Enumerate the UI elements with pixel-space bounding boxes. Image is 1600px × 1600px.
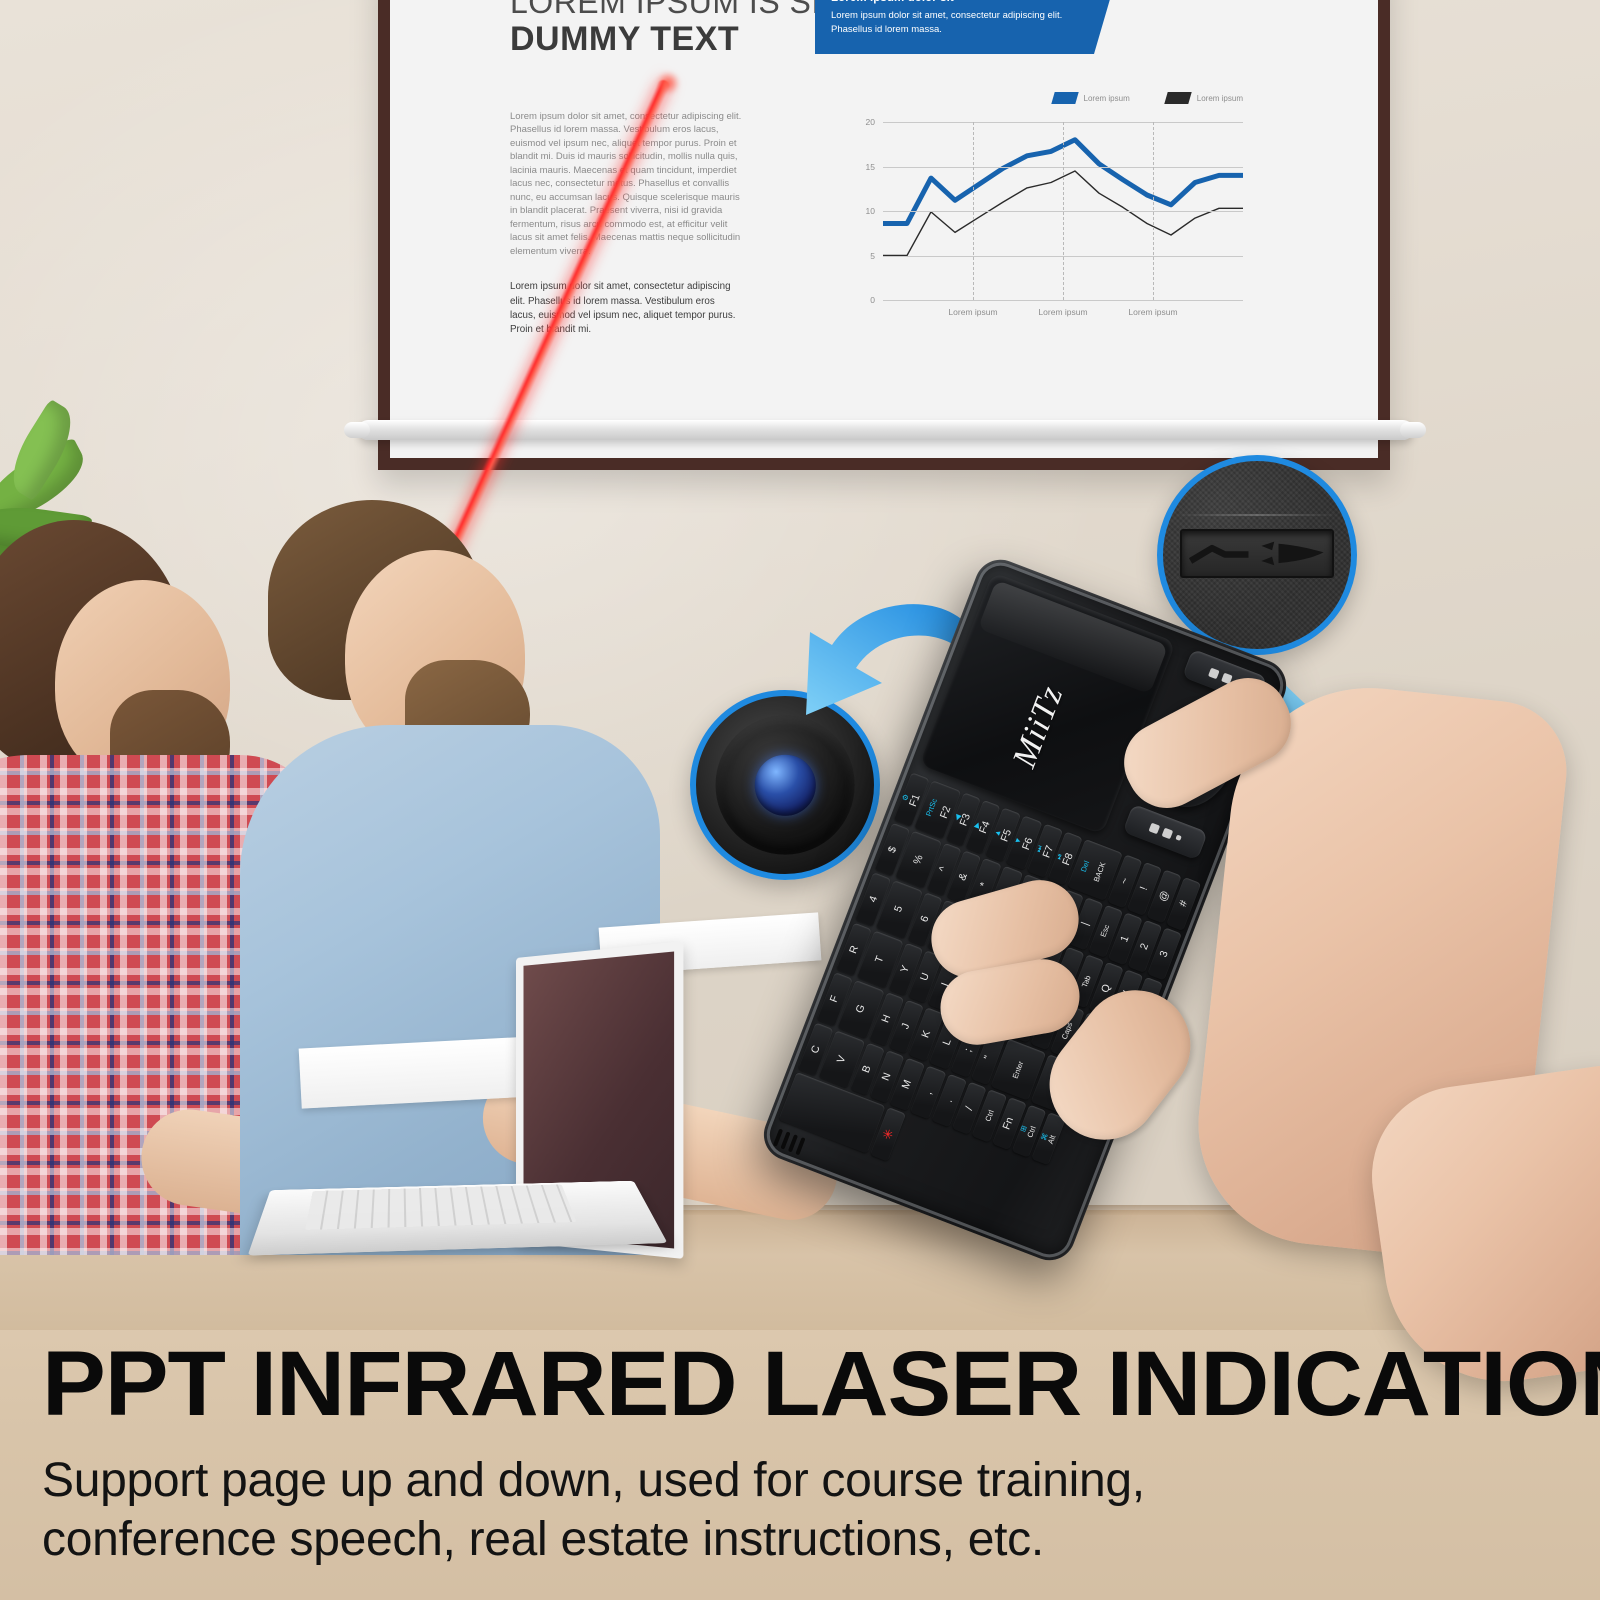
- button-dot: [1175, 834, 1181, 840]
- legend-label: Lorem ipsum: [1084, 94, 1130, 103]
- key-label: H: [880, 1014, 893, 1025]
- key-label: Y: [899, 964, 911, 974]
- key-label: 5: [893, 905, 905, 914]
- key-label: Enter: [1012, 1060, 1025, 1079]
- presentation-slide: LOREM IPSUM IS SIMPLY DUMMY TEXT Lorem i…: [390, 0, 1378, 458]
- key-label: R: [848, 944, 861, 955]
- battery-slot-opening: [1180, 529, 1334, 578]
- chart-gridline: [883, 300, 1243, 301]
- key-label: ;: [963, 1047, 974, 1053]
- subheading-line-2: conference speech, real estate instructi…: [42, 1511, 1342, 1570]
- key-label: #: [1178, 899, 1190, 908]
- key-label: N: [881, 1071, 894, 1082]
- slide-title-line2: DUMMY TEXT: [510, 20, 739, 59]
- legend-swatch: [1164, 92, 1191, 104]
- key-label: Fn: [1002, 1116, 1016, 1131]
- key-label: F1: [908, 793, 922, 808]
- key-label: Esc: [1100, 924, 1111, 938]
- key-label: J: [900, 1022, 912, 1031]
- key-label: |: [1080, 920, 1091, 926]
- roller-cap-right: [1400, 422, 1426, 438]
- key-secondary-label: PrtSc: [925, 797, 939, 817]
- legend-item: Lorem ipsum: [1166, 92, 1243, 104]
- key-label: ,: [923, 1089, 934, 1095]
- key-label: F4: [978, 820, 992, 835]
- screen-frame: LOREM IPSUM IS SIMPLY DUMMY TEXT Lorem i…: [378, 0, 1390, 470]
- chart-vertical-gridline: [973, 122, 974, 300]
- key-label: ~: [1119, 876, 1131, 885]
- slide-paragraph-1: Lorem ipsum dolor sit amet, consectetur …: [510, 110, 742, 258]
- key-label: &: [957, 871, 969, 881]
- key-label: 4: [867, 895, 879, 904]
- key-label: !: [1139, 885, 1150, 891]
- product-marketing-image: LOREM IPSUM IS SIMPLY DUMMY TEXT Lorem i…: [0, 0, 1600, 1600]
- battery-slot-callout: [1157, 455, 1357, 655]
- key-label: K: [920, 1029, 932, 1039]
- key-label: @: [1157, 889, 1171, 903]
- key-label: G: [854, 1004, 867, 1015]
- chart-y-tick: 5: [870, 251, 875, 261]
- key-label: Tab: [1081, 974, 1092, 988]
- button-dot: [1148, 822, 1160, 834]
- chart-y-tick: 10: [866, 206, 875, 216]
- key-label: 6: [919, 914, 931, 923]
- chart-x-tick: Lorem ipsum: [1038, 307, 1087, 317]
- key-label: Ctrl: [1026, 1125, 1037, 1139]
- key-label: F: [829, 994, 841, 1004]
- chart-vertical-gridline: [1063, 122, 1064, 300]
- key-label: U: [919, 971, 932, 982]
- slide-surface: LOREM IPSUM IS SIMPLY DUMMY TEXT Lorem i…: [390, 0, 1378, 458]
- brand-logo: MiiTz: [1006, 680, 1072, 772]
- key-label: BACK: [1093, 861, 1107, 883]
- key-label: 1: [1119, 934, 1131, 943]
- chart-plot-area: 05101520Lorem ipsumLorem ipsumLorem ipsu…: [883, 122, 1243, 300]
- slide-callout-heading: Lorem ipsum dolor sit: [831, 0, 1099, 4]
- key-label: $: [886, 845, 898, 854]
- key-label: .: [944, 1097, 955, 1103]
- button-dot: [1208, 667, 1220, 679]
- chart-y-tick: 15: [866, 162, 875, 172]
- subheading-line-1: Support page up and down, used for cours…: [42, 1452, 1342, 1511]
- legend-label: Lorem ipsum: [1197, 94, 1243, 103]
- slide-body-column: Lorem ipsum dolor sit amet, consectetur …: [510, 110, 742, 337]
- slot-contacts-icon: [1182, 531, 1332, 576]
- legend-item: Lorem ipsum: [1053, 92, 1130, 104]
- legend-swatch: [1051, 92, 1078, 104]
- laptop-keyboard: [305, 1184, 576, 1229]
- chart-y-tick: 20: [866, 117, 875, 127]
- key-label: ": [983, 1055, 994, 1062]
- key-label: F8: [1061, 852, 1075, 867]
- key-label: 2: [1139, 942, 1151, 951]
- subheading: Support page up and down, used for cours…: [42, 1452, 1342, 1569]
- key-label: *: [978, 881, 989, 889]
- slide-callout-box: Lorem ipsum dolor sit Lorem ipsum dolor …: [815, 0, 1115, 54]
- key-label: ^: [938, 865, 950, 873]
- chart-legend: Lorem ipsum Lorem ipsum: [1053, 92, 1244, 104]
- chart-y-tick: 0: [870, 295, 875, 305]
- key-label: Q: [1100, 983, 1113, 994]
- key-label: %: [912, 853, 925, 865]
- slide-line-chart: Lorem ipsum Lorem ipsum 05101520Lorem ip…: [845, 92, 1245, 332]
- key-secondary-label: Del: [1080, 859, 1091, 872]
- chart-x-tick: Lorem ipsum: [948, 307, 997, 317]
- key-label: /: [964, 1105, 975, 1111]
- chart-x-tick: Lorem ipsum: [1128, 307, 1177, 317]
- key-label: V: [835, 1054, 847, 1064]
- key-label: T: [874, 954, 886, 964]
- key-label: Alt: [1047, 1135, 1057, 1146]
- projector-screen: LOREM IPSUM IS SIMPLY DUMMY TEXT Lorem i…: [378, 0, 1390, 470]
- slide-callout-body: Lorem ipsum dolor sit amet, consectetur …: [831, 9, 1099, 37]
- laser-dot: [655, 72, 681, 94]
- key-label: C: [809, 1044, 822, 1055]
- key-label: M: [901, 1079, 914, 1091]
- key-label: B: [861, 1064, 873, 1074]
- chart-vertical-gridline: [1153, 122, 1154, 300]
- button-dot: [1161, 827, 1173, 839]
- laser-icon: ✳: [880, 1127, 896, 1142]
- headline: PPT INFRARED LASER INDICATION: [42, 1338, 1600, 1430]
- slot-seam-line: [1174, 514, 1339, 516]
- key-label: L: [942, 1038, 954, 1047]
- key-label: Ctrl: [984, 1109, 995, 1123]
- key-label: 3: [1159, 949, 1171, 958]
- roller-cap-left: [344, 422, 370, 438]
